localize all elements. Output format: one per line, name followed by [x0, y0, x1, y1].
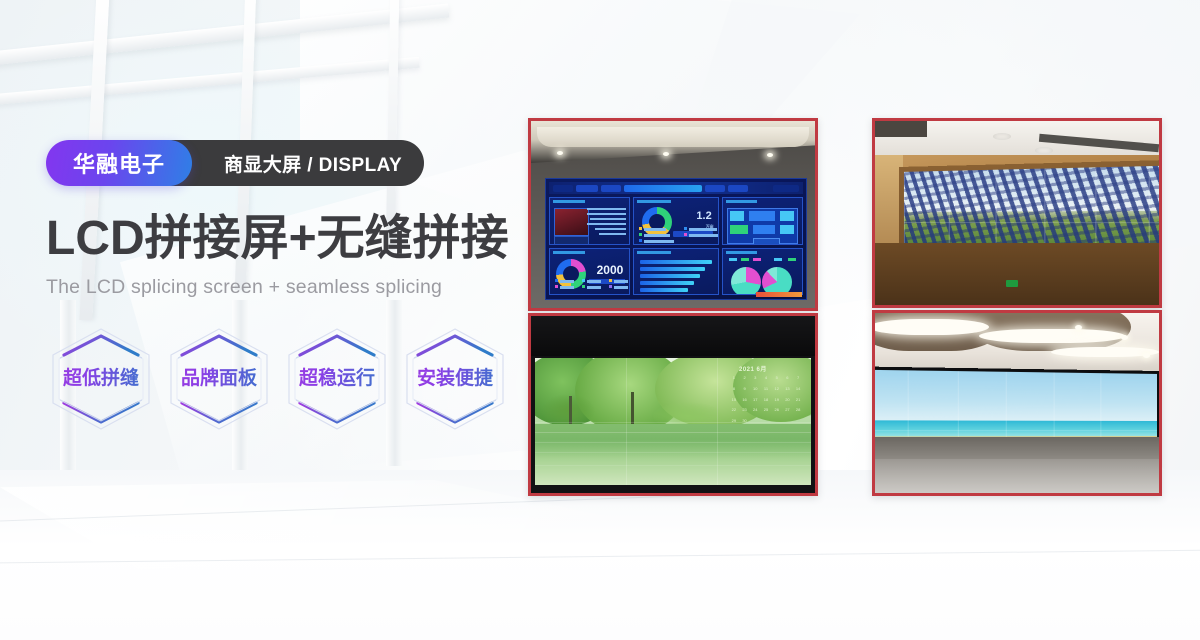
feature-badge-label: 安装便捷 — [400, 363, 510, 390]
calendar-day: 1 — [729, 375, 739, 385]
feature-badge-3: 安装便捷 — [400, 325, 510, 433]
video-wall-screen: 1.2 万亩 — [545, 178, 807, 300]
photo-park-scenery-video-wall: 2021 6月 12345678910111213141516171819202… — [528, 313, 818, 496]
calendar-day: 13 — [783, 386, 793, 396]
calendar-day: 23 — [740, 407, 750, 417]
photo-dashboard-video-wall: 1.2 万亩 — [528, 118, 818, 311]
photo-solar-farm-video-wall — [872, 118, 1162, 308]
calendar-day: 21 — [793, 397, 803, 407]
calendar-day: 12 — [772, 386, 782, 396]
calendar-day: 5 — [772, 375, 782, 385]
page-title: LCD拼接屏+无缝拼接 — [46, 214, 526, 264]
calendar-day: 30 — [740, 418, 750, 428]
calendar-day: 2 — [740, 375, 750, 385]
calendar-title: 2021 6月 — [739, 364, 767, 373]
calendar-day: 29 — [729, 418, 739, 428]
calendar-day: 25 — [761, 407, 771, 417]
feature-badge-label: 超低拼缝 — [46, 363, 156, 390]
page-subtitle: The LCD splicing screen + seamless splic… — [46, 276, 526, 299]
brand-name-label: 华融电子 — [73, 147, 165, 179]
calendar-day: 3 — [750, 375, 760, 385]
calendar-day: 6 — [783, 375, 793, 385]
calendar-day: 16 — [740, 397, 750, 407]
calendar-day — [750, 418, 760, 428]
calendar-day: 17 — [750, 397, 760, 407]
feature-badge-label: 品牌面板 — [164, 363, 274, 390]
feature-badge-2: 超稳运行 — [282, 325, 392, 433]
feature-badge-list: 超低拼缝 品牌面板 — [46, 325, 526, 433]
feature-badge-label: 超稳运行 — [282, 363, 392, 390]
calendar-day: 8 — [729, 386, 739, 396]
calendar-day: 10 — [750, 386, 760, 396]
calendar-day: 27 — [783, 407, 793, 417]
brand-name-pill: 华融电子 — [46, 140, 192, 186]
calendar-day: 14 — [793, 386, 803, 396]
calendar-day: 7 — [793, 375, 803, 385]
calendar-day: 4 — [761, 375, 771, 385]
banner-copy: 商显大屏 / DISPLAY 华融电子 LCD拼接屏+无缝拼接 The LCD … — [46, 140, 526, 433]
brand-category-label: 商显大屏 / DISPLAY — [224, 150, 402, 177]
calendar-day: 24 — [750, 407, 760, 417]
promo-banner: 商显大屏 / DISPLAY 华融电子 LCD拼接屏+无缝拼接 The LCD … — [0, 0, 1200, 640]
calendar-day — [761, 418, 771, 428]
product-photo-grid: 1.2 万亩 — [528, 118, 1164, 490]
calendar-day: 28 — [793, 407, 803, 417]
video-wall-screen: 2021 6月 12345678910111213141516171819202… — [535, 358, 811, 485]
brand-badge: 商显大屏 / DISPLAY 华融电子 — [46, 140, 526, 186]
calendar-day — [783, 418, 793, 428]
calendar-day: 11 — [761, 386, 771, 396]
calendar-day: 18 — [761, 397, 771, 407]
calendar-day: 26 — [772, 407, 782, 417]
calendar-day: 22 — [729, 407, 739, 417]
calendar-day: 19 — [772, 397, 782, 407]
calendar-day: 15 — [729, 397, 739, 407]
calendar-day — [772, 418, 782, 428]
calendar-grid: 1234567891011121314151617181920212223242… — [729, 375, 803, 428]
calendar-day: 9 — [740, 386, 750, 396]
calendar-overlay: 2021 6月 12345678910111213141516171819202… — [729, 364, 803, 428]
feature-badge-0: 超低拼缝 — [46, 325, 156, 433]
photo-beach-boardwalk-video-wall — [872, 310, 1162, 496]
calendar-day — [793, 418, 803, 428]
feature-badge-1: 品牌面板 — [164, 325, 274, 433]
calendar-day: 20 — [783, 397, 793, 407]
